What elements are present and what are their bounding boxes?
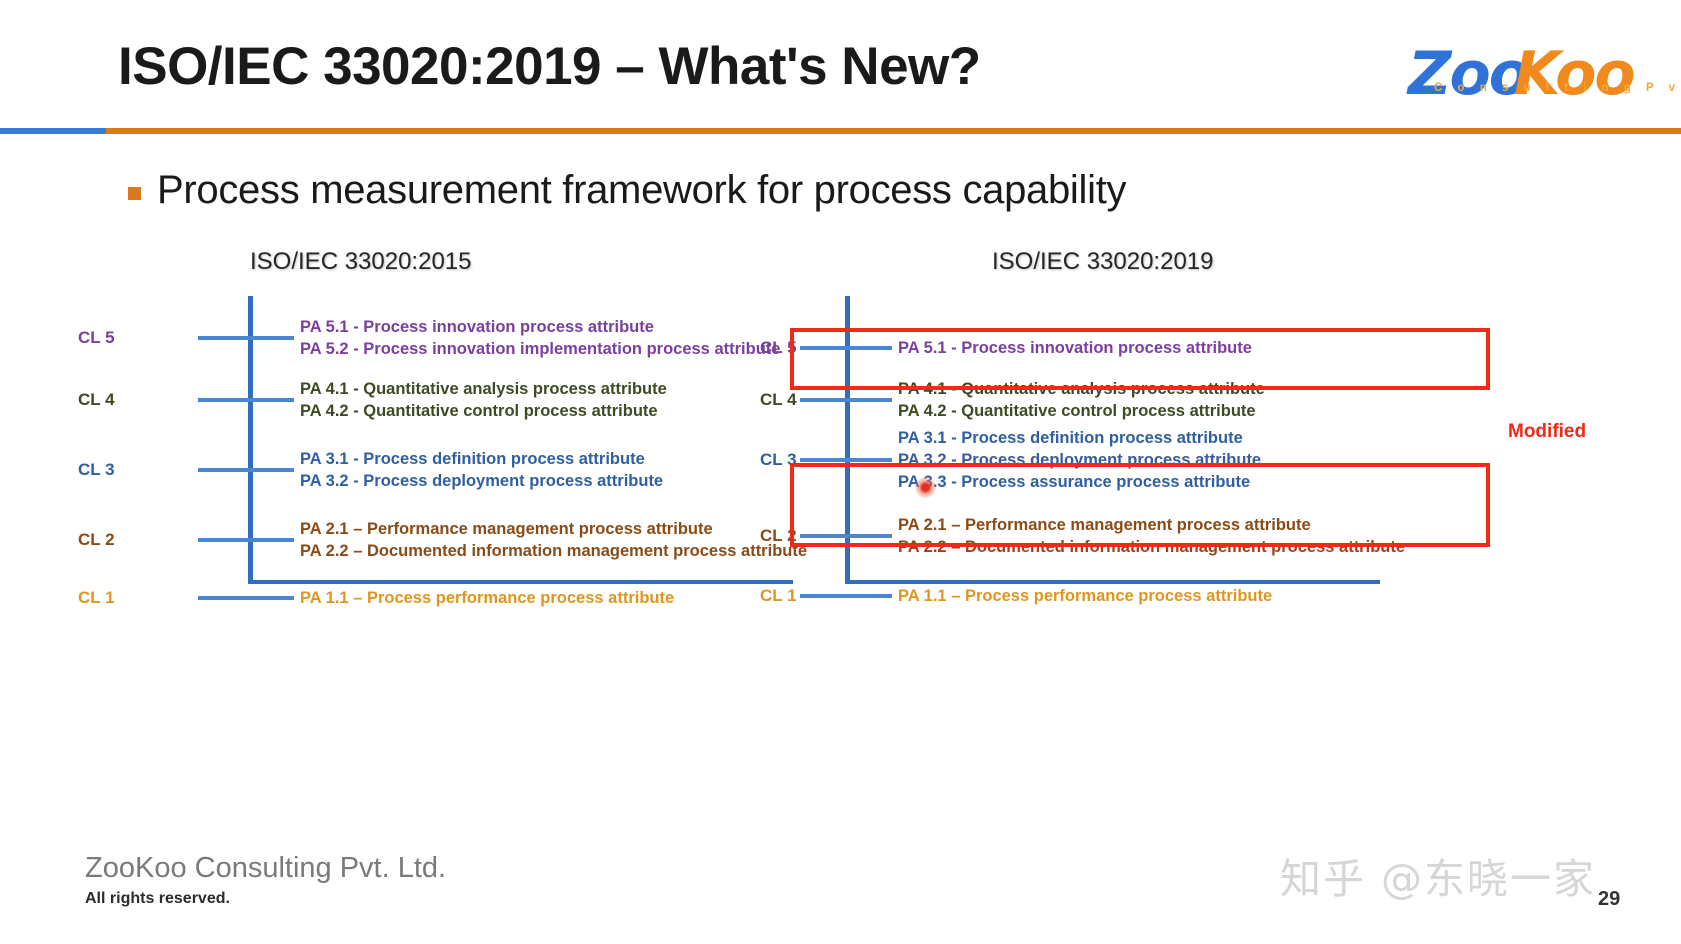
process-attribute-list: PA 1.1 – Process performance process att… <box>300 587 674 609</box>
process-attribute-list: PA 4.1 - Quantitative analysis process a… <box>300 378 667 422</box>
process-attribute-item: PA 4.2 - Quantitative control process at… <box>898 400 1265 422</box>
logo-text-koo: Koo <box>1514 36 1634 112</box>
level-connector-tick <box>800 398 892 402</box>
square-bullet-icon <box>128 187 141 200</box>
process-attribute-item: PA 3.2 - Process deployment process attr… <box>300 470 663 492</box>
capability-level-label-cl5: CL 5 <box>78 328 115 348</box>
process-attribute-list: PA 1.1 – Process performance process att… <box>898 585 1272 607</box>
panel-heading-left: ISO/IEC 33020:2015 <box>250 248 471 276</box>
capability-level-label-cl1: CL 1 <box>78 588 115 608</box>
page-number: 29 <box>1598 888 1620 911</box>
process-attribute-list: PA 3.1 - Process definition process attr… <box>300 448 663 492</box>
level-connector-tick <box>800 594 892 598</box>
level-connector-tick <box>198 398 294 402</box>
capability-baseline-left <box>248 580 793 584</box>
footer-rights-notice: All rights reserved. <box>85 890 230 908</box>
process-attribute-item: PA 4.2 - Quantitative control process at… <box>300 400 667 422</box>
capability-level-label-cl1: CL 1 <box>760 586 797 606</box>
logo-text-zoo: Zoo <box>1408 36 1528 112</box>
highlight-box-cl5 <box>790 328 1490 390</box>
process-attribute-item: PA 1.1 – Process performance process att… <box>300 587 674 609</box>
footer-company-name: ZooKoo Consulting Pvt. Ltd. <box>85 852 446 885</box>
zhihu-watermark: 知乎 @东晓一家 <box>1280 845 1596 905</box>
modified-annotation-label: Modified <box>1508 421 1586 443</box>
level-connector-tick <box>800 458 892 462</box>
process-attribute-item: PA 2.2 – Documented information manageme… <box>300 540 807 562</box>
capability-level-label-cl2: CL 2 <box>78 530 115 550</box>
click-highlight-cursor <box>915 477 936 498</box>
level-connector-tick <box>198 336 294 340</box>
level-connector-tick <box>198 538 294 542</box>
bullet-heading: Process measurement framework for proces… <box>128 168 1126 213</box>
capability-baseline-right <box>845 580 1380 584</box>
process-attribute-item: PA 5.1 - Process innovation process attr… <box>300 316 780 338</box>
level-connector-tick <box>198 596 294 600</box>
level-connector-tick <box>198 468 294 472</box>
process-attribute-list: PA 2.1 – Performance management process … <box>300 518 807 562</box>
process-attribute-item: PA 4.1 - Quantitative analysis process a… <box>300 378 667 400</box>
panel-heading-right: ISO/IEC 33020:2019 <box>992 248 1213 276</box>
process-attribute-item: PA 1.1 – Process performance process att… <box>898 585 1272 607</box>
zookoo-logo: Zoo Koo C o n s u l t i n g P v t . L t … <box>1408 36 1648 114</box>
bullet-heading-label: Process measurement framework for proces… <box>157 168 1126 213</box>
capability-level-label-cl4: CL 4 <box>78 390 115 410</box>
process-attribute-item: PA 3.1 - Process definition process attr… <box>898 427 1261 449</box>
divider-segment-blue <box>0 128 106 134</box>
capability-level-label-cl3: CL 3 <box>78 460 115 480</box>
divider-segment-orange <box>106 128 1681 134</box>
logo-tagline: C o n s u l t i n g P v t . L t d . <box>1434 82 1681 94</box>
process-attribute-item: PA 3.1 - Process definition process attr… <box>300 448 663 470</box>
slide-canvas: ISO/IEC 33020:2019 – What's New? Zoo Koo… <box>0 0 1681 944</box>
process-attribute-list: PA 5.1 - Process innovation process attr… <box>300 316 780 360</box>
title-divider-bar <box>0 128 1681 134</box>
highlight-box-cl3 <box>790 463 1490 547</box>
capability-level-label-cl4: CL 4 <box>760 390 797 410</box>
process-attribute-item: PA 5.2 - Process innovation implementati… <box>300 338 780 360</box>
page-title: ISO/IEC 33020:2019 – What's New? <box>118 36 981 97</box>
process-attribute-item: PA 2.1 – Performance management process … <box>300 518 807 540</box>
